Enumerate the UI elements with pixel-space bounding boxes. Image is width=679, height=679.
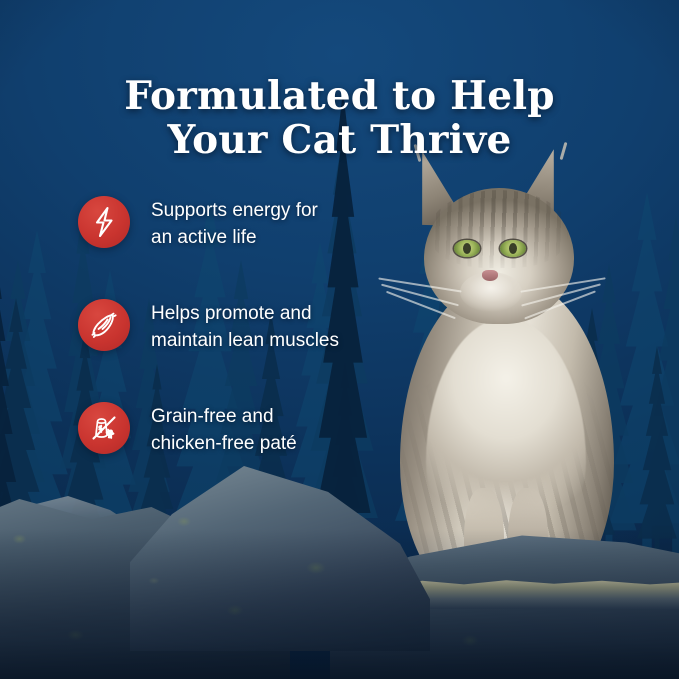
headline-line-1: Formulated to Help: [124, 73, 554, 119]
benefit-text: Helps promote and maintain lean muscles: [151, 299, 339, 354]
promotional-banner: Formulated to Help Your Cat Thrive Suppo…: [0, 0, 679, 679]
foreground-shadow: [0, 529, 679, 679]
cat-forehead-stripes: [430, 190, 568, 268]
no-grain-icon: [78, 402, 130, 454]
benefit-item-grain-free: Grain-free and chicken-free paté: [78, 402, 378, 457]
cat-eye-left: [454, 240, 480, 257]
cat-pupil-right: [509, 243, 517, 254]
benefit-list: Supports energy for an active life Helps…: [78, 196, 378, 457]
cat-pupil-left: [463, 243, 471, 254]
benefit-text: Supports energy for an active life: [151, 196, 318, 251]
benefit-item-energy: Supports energy for an active life: [78, 196, 378, 251]
rocky-foreground: [0, 449, 679, 679]
cat-nose: [482, 270, 498, 281]
benefit-text: Grain-free and chicken-free paté: [151, 402, 297, 457]
headline-line-2: Your Cat Thrive: [0, 118, 679, 162]
benefit-item-muscle: Helps promote and maintain lean muscles: [78, 299, 378, 354]
lightning-bolt-icon: [78, 196, 130, 248]
cat-eye-right: [500, 240, 526, 257]
page-title: Formulated to Help Your Cat Thrive: [0, 74, 679, 162]
muscle-icon: [78, 299, 130, 351]
